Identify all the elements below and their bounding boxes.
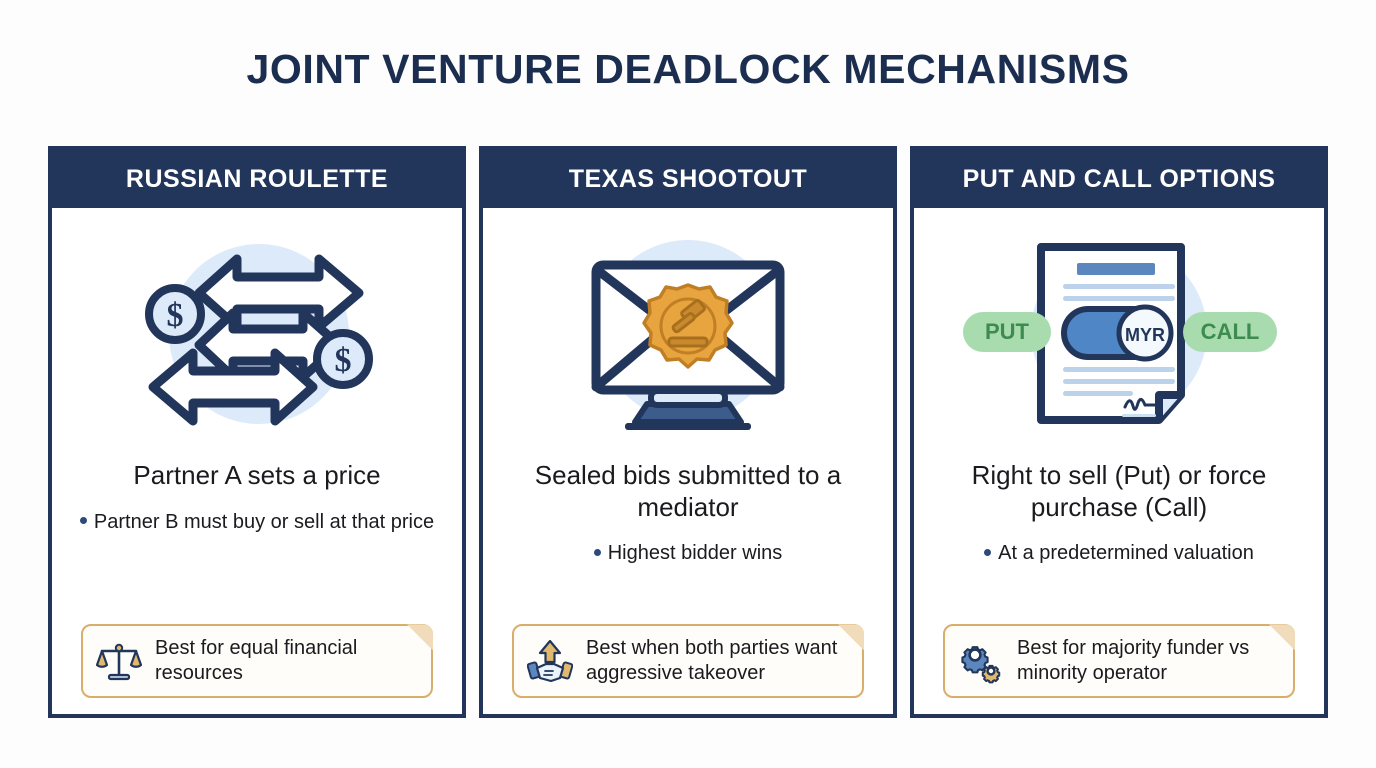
- card-body-russian-roulette: $ $ Partner A sets a price Partner B mus…: [52, 208, 462, 714]
- card-bullets-texas-shootout: Highest bidder wins: [497, 541, 879, 566]
- card-put-and-call-options[interactable]: PUT AND CALL OPTIONS: [910, 146, 1328, 718]
- card-bullets-put-and-call-options: At a predetermined valuation: [928, 541, 1310, 566]
- note-text: Best for equal financial resources: [155, 636, 419, 686]
- bullet-dot-icon: [984, 549, 991, 556]
- card-bullets-russian-roulette: Partner B must buy or sell at that price: [66, 510, 448, 535]
- page-title: JOINT VENTURE DEADLOCK MECHANISMS: [0, 46, 1376, 93]
- card-headline-texas-shootout: Sealed bids submitted to a mediator: [497, 460, 879, 523]
- list-item: At a predetermined valuation: [928, 541, 1310, 566]
- two-way-money-arrows-icon: $ $: [66, 208, 448, 460]
- svg-text:PUT: PUT: [985, 319, 1030, 344]
- card-header-put-and-call-options: PUT AND CALL OPTIONS: [914, 150, 1324, 208]
- balance-scales-icon: [95, 637, 143, 685]
- card-body-put-and-call-options: PUT CALL MYR Right to sell (Put) or forc…: [914, 208, 1324, 714]
- svg-text:$: $: [335, 342, 352, 379]
- bullet-text: Partner B must buy or sell at that price: [94, 511, 434, 533]
- svg-text:MYR: MYR: [1125, 325, 1165, 345]
- note-box-texas-shootout: Best when both parties want aggressive t…: [512, 624, 864, 698]
- svg-text:CALL: CALL: [1201, 319, 1260, 344]
- list-item: Highest bidder wins: [497, 541, 879, 566]
- card-headline-russian-roulette: Partner A sets a price: [127, 460, 386, 492]
- infographic-page: JOINT VENTURE DEADLOCK MECHANISMS RUSSIA…: [0, 0, 1376, 768]
- note-text: Best when both parties want aggressive t…: [586, 636, 850, 686]
- note-box-russian-roulette: Best for equal financial resources: [81, 624, 433, 698]
- bullet-dot-icon: [80, 517, 87, 524]
- card-header-texas-shootout: TEXAS SHOOTOUT: [483, 150, 893, 208]
- card-body-texas-shootout: Sealed bids submitted to a mediator High…: [483, 208, 893, 714]
- note-text: Best for majority funder vs minority ope…: [1017, 636, 1281, 686]
- cards-row: RUSSIAN ROULETTE $: [48, 146, 1328, 718]
- list-item: Partner B must buy or sell at that price: [66, 510, 448, 535]
- note-box-put-and-call-options: Best for majority funder vs minority ope…: [943, 624, 1295, 698]
- bullet-text: At a predetermined valuation: [998, 542, 1254, 564]
- handshake-growth-icon: [526, 637, 574, 685]
- card-headline-put-and-call-options: Right to sell (Put) or force purchase (C…: [928, 460, 1310, 523]
- contract-toggle-icon: PUT CALL MYR: [928, 208, 1310, 460]
- bullet-dot-icon: [594, 549, 601, 556]
- card-texas-shootout[interactable]: TEXAS SHOOTOUT: [479, 146, 897, 718]
- card-header-russian-roulette: RUSSIAN ROULETTE: [52, 150, 462, 208]
- card-russian-roulette[interactable]: RUSSIAN ROULETTE $: [48, 146, 466, 718]
- bullet-text: Highest bidder wins: [608, 542, 783, 564]
- svg-text:$: $: [167, 297, 184, 334]
- gears-icon: [957, 637, 1005, 685]
- sealed-envelope-gavel-icon: [497, 208, 879, 460]
